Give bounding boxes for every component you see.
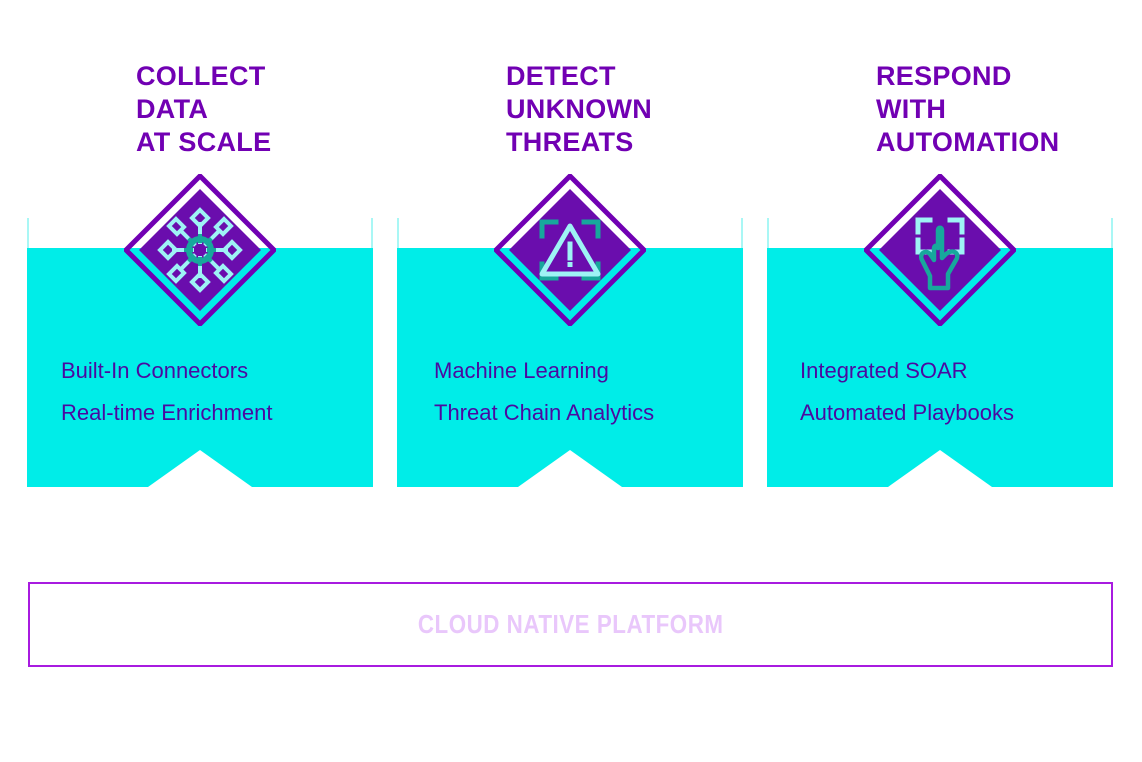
panel-edge-tick: [767, 218, 769, 248]
column-heading-respond-automation: RESPOND WITH AUTOMATION: [876, 60, 1059, 159]
icon-badge-detect-threats: [494, 174, 646, 326]
diagram-canvas: COLLECT DATA AT SCALE DETECT UNKNOWN THR…: [0, 0, 1142, 762]
panel-notch: [148, 450, 252, 487]
feature-list-collect-data: Built-In Connectors Real-time Enrichment: [61, 350, 273, 434]
icon-badge-respond-automation: [864, 174, 1016, 326]
list-item: Machine Learning: [434, 350, 654, 392]
column-heading-collect-data: COLLECT DATA AT SCALE: [136, 60, 271, 159]
feature-list-respond-automation: Integrated SOAR Automated Playbooks: [800, 350, 1014, 434]
panel-notch: [518, 450, 622, 487]
panel-notch: [888, 450, 992, 487]
list-item: Real-time Enrichment: [61, 392, 273, 434]
column-heading-detect-threats: DETECT UNKNOWN THREATS: [506, 60, 652, 159]
panel-edge-tick: [1111, 218, 1113, 248]
list-item: Integrated SOAR: [800, 350, 1014, 392]
list-item: Threat Chain Analytics: [434, 392, 654, 434]
panel-edge-tick: [397, 218, 399, 248]
panel-edge-tick: [27, 218, 29, 248]
panel-edge-tick: [741, 218, 743, 248]
icon-badge-collect-data: [124, 174, 276, 326]
list-item: Built-In Connectors: [61, 350, 273, 392]
list-item: Automated Playbooks: [800, 392, 1014, 434]
panel-edge-tick: [371, 218, 373, 248]
platform-bar-label: CLOUD NATIVE PLATFORM: [418, 609, 724, 640]
cloud-native-platform-bar: CLOUD NATIVE PLATFORM: [28, 582, 1113, 667]
feature-list-detect-threats: Machine Learning Threat Chain Analytics: [434, 350, 654, 434]
